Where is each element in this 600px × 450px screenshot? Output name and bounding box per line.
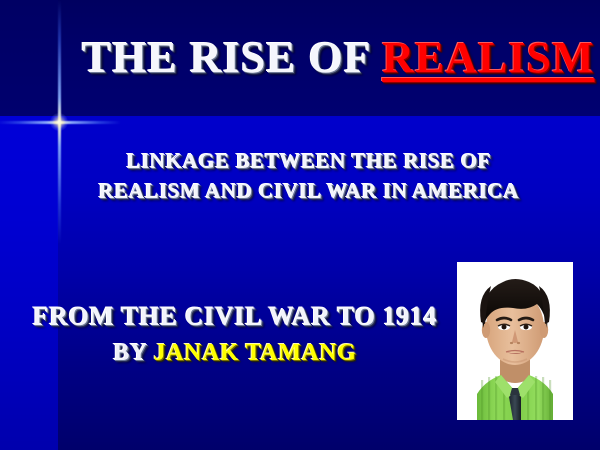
title-accent-text: REALISM [382, 33, 594, 82]
slide-background-left-strip-top [0, 0, 58, 116]
author-name: JANAK TAMANG [154, 340, 357, 366]
page-title: THE RISE OF REALISM [82, 36, 594, 80]
subtitle-line-1: LINKAGE BETWEEN THE RISE OF [18, 146, 600, 176]
author-prefix: BY [113, 340, 153, 366]
author-credit: BY JANAK TAMANG [0, 340, 470, 366]
period-text: FROM THE CIVIL WAR TO 1914 [0, 303, 470, 332]
portrait-photo-icon [457, 262, 573, 420]
subtitle: LINKAGE BETWEEN THE RISE OF REALISM AND … [0, 146, 600, 207]
avatar [457, 262, 573, 420]
subtitle-line-2: REALISM AND CIVIL WAR IN AMERICA [18, 176, 600, 206]
title-slide: THE RISE OF REALISM LINKAGE BETWEEN THE … [0, 0, 600, 450]
title-plain-text: THE RISE OF [82, 33, 382, 82]
